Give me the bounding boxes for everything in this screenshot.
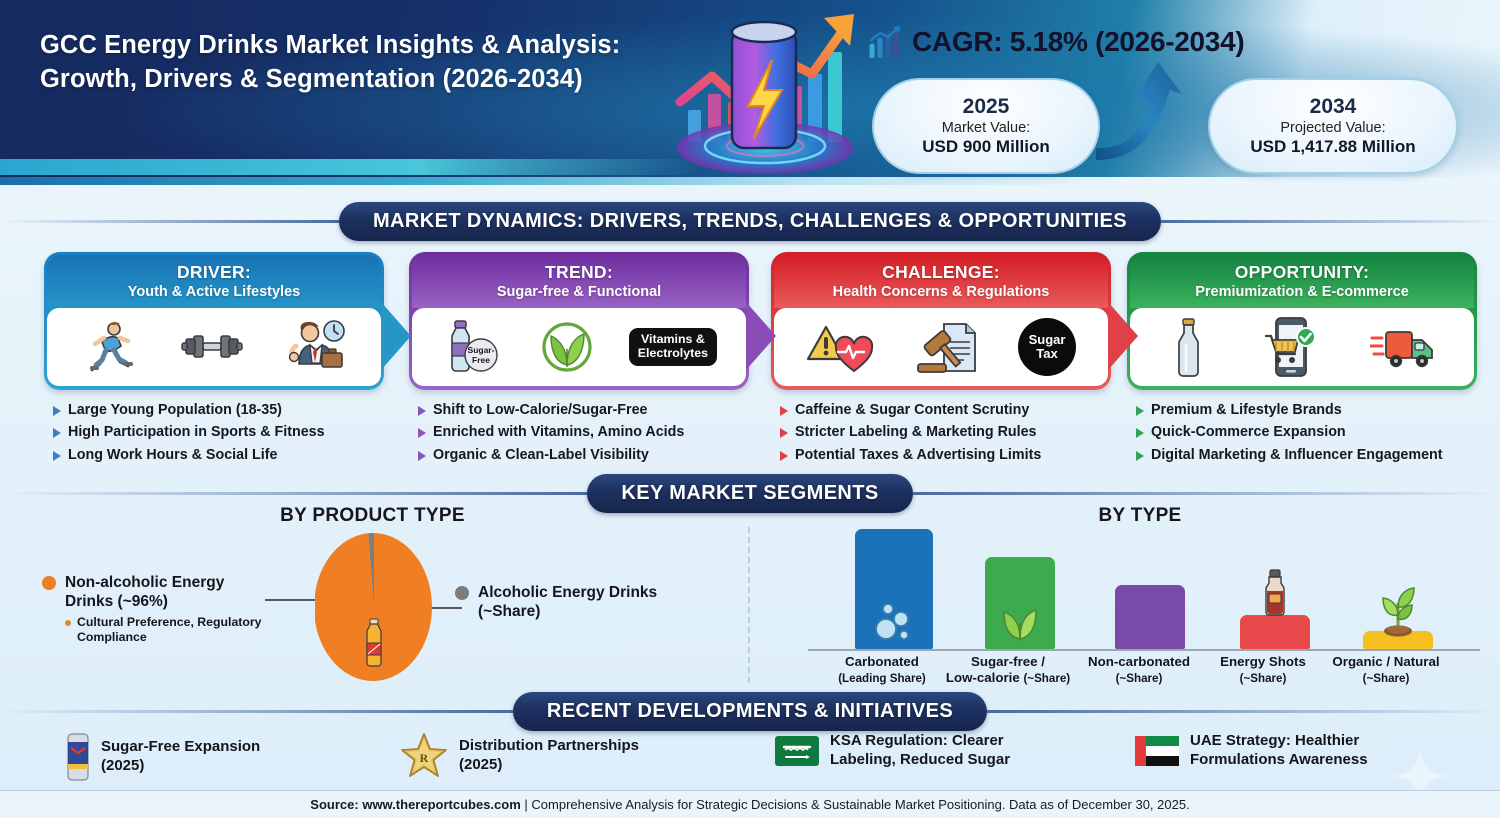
recent-line2: Labeling, Reduced Sugar xyxy=(830,751,1010,768)
pie-chart-by-product-type: BY PRODUCT TYPE xyxy=(0,505,745,695)
list-item: Caffeine & Sugar Content Scrutiny xyxy=(780,401,1111,420)
banner-line-right xyxy=(913,492,1500,495)
card-box: OPPORTUNITY: Premiumization & E-commerce xyxy=(1127,252,1477,390)
sugar-free-bottle-icon: Sugar- Free xyxy=(441,317,505,377)
growth-arrow-icon xyxy=(1094,60,1224,170)
bullet-text: Potential Taxes & Advertising Limits xyxy=(795,446,1041,465)
legend-row: Non-alcoholic Energy Drinks (~96%) xyxy=(42,573,272,612)
cagr-text: CAGR: 5.18% (2026-2034) xyxy=(912,26,1244,58)
banner-label: MARKET DYNAMICS: DRIVERS, TRENDS, CHALLE… xyxy=(339,202,1161,241)
bullet-triangle-icon xyxy=(1136,428,1144,438)
bar xyxy=(855,529,933,649)
card-bullets: Large Young Population (18-35) High Part… xyxy=(44,401,384,465)
card-header: DRIVER: Youth & Active Lifestyles xyxy=(47,255,381,308)
bullet-triangle-icon xyxy=(780,428,788,438)
legend-label: Non-alcoholic Energy Drinks (~96%) xyxy=(65,573,224,612)
bullet-triangle-icon xyxy=(1136,451,1144,461)
footer-text: Source: www.thereportcubes.com | Compreh… xyxy=(310,797,1189,812)
banner-line-left xyxy=(0,220,339,223)
pie-legend-non-alcoholic: Non-alcoholic Energy Drinks (~96%) Cultu… xyxy=(42,573,272,645)
bullet-triangle-icon xyxy=(418,428,426,438)
bar-chart-plot xyxy=(815,529,1475,649)
mobile-cart-check-icon xyxy=(1260,316,1318,378)
cagr-row: CAGR: 5.18% (2026-2034) xyxy=(868,26,1244,58)
bar-label-text: Organic / Natural xyxy=(1332,654,1439,669)
gavel-document-icon xyxy=(914,318,978,376)
bar-label-text: Non-carbonated xyxy=(1088,654,1190,669)
bar-column-organic-natural xyxy=(1363,529,1433,649)
recent-developments-banner: RECENT DEVELOPMENTS & INITIATIVES xyxy=(0,692,1500,731)
bullet-text: Premium & Lifestyle Brands xyxy=(1151,401,1342,420)
businessman-clock-icon xyxy=(286,318,348,376)
recent-item-distribution-partnerships[interactable]: R Distribution Partnerships (2025) xyxy=(400,732,639,780)
source-url[interactable]: www.thereportcubes.com xyxy=(362,797,520,812)
infographic-page: GCC Energy Drinks Market Insights & Anal… xyxy=(0,0,1500,818)
card-bullets: Premium & Lifestyle Brands Quick-Commerc… xyxy=(1127,401,1477,465)
card-box: CHALLENGE: Health Concerns & Regulations xyxy=(771,252,1111,390)
bar-column-carbonated xyxy=(855,529,933,649)
card-title: CHALLENGE: xyxy=(780,262,1102,283)
card-header: TREND: Sugar-free & Functional xyxy=(412,255,746,308)
recent-line2: (2025) xyxy=(101,757,144,774)
bullet-triangle-icon xyxy=(53,428,61,438)
card-icon-row xyxy=(47,308,381,386)
banner-line-left xyxy=(0,710,513,713)
legend-label-line1: Non-alcoholic Energy xyxy=(65,574,224,591)
bar xyxy=(1115,585,1185,649)
legend-sub-dot xyxy=(65,620,71,626)
source-label: Source: xyxy=(310,797,358,812)
bullet-triangle-icon xyxy=(1136,406,1144,416)
recent-item-text: Sugar-Free Expansion (2025) xyxy=(101,738,260,776)
cloud-value: USD 1,417.88 Million xyxy=(1250,137,1415,157)
card-bullets: Caffeine & Sugar Content Scrutiny Strict… xyxy=(771,401,1111,465)
recent-developments-section: Sugar-Free Expansion (2025) R Distributi… xyxy=(0,728,1500,790)
bar-chart-labels: Carbonated (Leading Share) Sugar-free /L… xyxy=(800,654,1490,696)
header-accent-bar xyxy=(0,159,700,175)
card-subtitle: Sugar-free & Functional xyxy=(418,284,740,300)
card-title: TREND: xyxy=(418,262,740,283)
bar-label-energy-shots: Energy Shots (~Share) xyxy=(1207,654,1319,686)
bullet-triangle-icon xyxy=(53,406,61,416)
bar-label-sugar-free: Sugar-free /Low-calorie (~Share) xyxy=(943,654,1073,686)
bar-label-text: Carbonated xyxy=(845,654,919,669)
card-header: CHALLENGE: Health Concerns & Regulations xyxy=(774,255,1108,308)
recent-item-sugar-free-expansion[interactable]: Sugar-Free Expansion (2025) xyxy=(66,732,260,782)
legend-label-line2: (~Share) xyxy=(478,603,540,620)
recent-line1: Distribution Partnerships xyxy=(459,737,639,754)
cloud-year: 2025 xyxy=(963,95,1010,118)
card-arrow-tip xyxy=(381,302,411,370)
recent-line2: Formulations Awareness xyxy=(1190,751,1368,768)
pie-legend-alcoholic: Alcoholic Energy Drinks (~Share) xyxy=(455,583,695,622)
bullet-text: Stricter Labeling & Marketing Rules xyxy=(795,423,1037,442)
svg-text:R: R xyxy=(420,751,429,765)
bullet-text: Quick-Commerce Expansion xyxy=(1151,423,1346,442)
card-subtitle: Premiumization & E-commerce xyxy=(1136,284,1468,300)
card-title: DRIVER: xyxy=(53,262,375,283)
recent-item-text: UAE Strategy: Healthier Formulations Awa… xyxy=(1190,732,1368,770)
bullet-text: Shift to Low-Calorie/Sugar-Free xyxy=(433,401,647,420)
svg-text:Free: Free xyxy=(472,355,490,365)
card-header: OPPORTUNITY: Premiumization & E-commerce xyxy=(1130,255,1474,308)
segments-divider xyxy=(748,527,750,683)
legend-sub-text: Cultural Preference, Regulatory Complian… xyxy=(77,615,272,646)
list-item: Quick-Commerce Expansion xyxy=(1136,423,1477,442)
list-item: Organic & Clean-Label Visibility xyxy=(418,446,749,465)
bar-label-text: Energy Shots xyxy=(1220,654,1306,669)
market-value-cloud-2025: 2025 Market Value: USD 900 Million xyxy=(872,78,1100,174)
dynamics-card-challenge[interactable]: CHALLENGE: Health Concerns & Regulations xyxy=(771,252,1111,468)
list-item: Large Young Population (18-35) xyxy=(53,401,384,420)
bar-column-sugar-free xyxy=(985,529,1055,649)
footer-source-bar: Source: www.thereportcubes.com | Compreh… xyxy=(0,790,1500,818)
bullet-triangle-icon xyxy=(418,451,426,461)
legend-color-dot xyxy=(42,576,56,590)
legend-label-line2: Drinks (~96%) xyxy=(65,593,168,610)
header-banner: GCC Energy Drinks Market Insights & Anal… xyxy=(0,0,1500,185)
card-bullets: Shift to Low-Calorie/Sugar-Free Enriched… xyxy=(409,401,749,465)
key-market-segments-section: BY PRODUCT TYPE xyxy=(0,505,1500,695)
bullet-text: High Participation in Sports & Fitness xyxy=(68,423,325,442)
banner-line-left xyxy=(0,492,587,495)
list-item: Potential Taxes & Advertising Limits xyxy=(780,446,1111,465)
redbull-can-icon xyxy=(66,732,90,782)
bar-sublabel-text: (~Share) xyxy=(1363,672,1410,685)
sprout-icon xyxy=(1374,585,1422,637)
bullet-text: Digital Marketing & Influencer Engagemen… xyxy=(1151,446,1443,465)
bar-chart-by-type: BY TYPE xyxy=(780,505,1500,695)
bullet-text: Organic & Clean-Label Visibility xyxy=(433,446,649,465)
shot-bottle-icon xyxy=(1260,569,1290,617)
bubbles-icon xyxy=(871,597,917,643)
cloud-label: Market Value: xyxy=(942,120,1030,136)
bullet-text: Enriched with Vitamins, Amino Acids xyxy=(433,423,684,442)
bar-label-carbonated: Carbonated (Leading Share) xyxy=(822,654,942,686)
bar xyxy=(1240,615,1310,649)
rockstar-star-icon: R xyxy=(400,732,448,780)
recent-line1: Sugar-Free Expansion xyxy=(101,738,260,755)
recent-item-text: KSA Regulation: Clearer Labeling, Reduce… xyxy=(830,732,1010,770)
list-item: Premium & Lifestyle Brands xyxy=(1136,401,1477,420)
runner-icon xyxy=(80,318,138,376)
energy-drink-can-icon xyxy=(640,2,890,182)
bullet-triangle-icon xyxy=(53,451,61,461)
cloud-label: Projected Value: xyxy=(1280,120,1385,136)
bar-sublabel-text: (~Share) xyxy=(1240,672,1287,685)
bullet-text: Long Work Hours & Social Life xyxy=(68,446,277,465)
legend-color-dot xyxy=(455,586,469,600)
card-subtitle: Health Concerns & Regulations xyxy=(780,284,1102,300)
list-item: Enriched with Vitamins, Amino Acids xyxy=(418,423,749,442)
bar xyxy=(1363,631,1433,649)
bar xyxy=(985,557,1055,649)
bullet-text: Large Young Population (18-35) xyxy=(68,401,282,420)
bar-sublabel-text: (~Share) xyxy=(1116,672,1163,685)
banner-line-right xyxy=(987,710,1500,713)
cloud-year: 2034 xyxy=(1310,95,1357,118)
bar-label-non-carbonated: Non-carbonated (~Share) xyxy=(1074,654,1204,686)
card-title: OPPORTUNITY: xyxy=(1136,262,1468,283)
warning-heartbeat-icon xyxy=(806,319,874,375)
legend-label-line1: Alcoholic Energy Drinks xyxy=(478,584,657,601)
bar-chart-growth-icon xyxy=(868,26,902,58)
list-item: Shift to Low-Calorie/Sugar-Free xyxy=(418,401,749,420)
bullet-triangle-icon xyxy=(780,451,788,461)
banner-line-right xyxy=(1161,220,1500,223)
premium-bottle-icon xyxy=(1168,316,1208,378)
dynamics-card-trend[interactable]: TREND: Sugar-free & Functional Sugar- Fr… xyxy=(409,252,749,468)
card-icon-row xyxy=(1130,308,1474,386)
bar-sublabel-text: (~Share) xyxy=(1023,672,1070,685)
bar-chart-baseline xyxy=(808,649,1480,651)
legend-label: Alcoholic Energy Drinks (~Share) xyxy=(478,583,657,622)
energy-drink-bottle-icon xyxy=(367,619,381,666)
pie-chart-title: BY PRODUCT TYPE xyxy=(0,505,745,527)
bar-sublabel-text: (Leading Share) xyxy=(838,672,926,685)
svg-text:Sugar-: Sugar- xyxy=(467,345,494,355)
sugar-tax-badge: Sugar Tax xyxy=(1018,318,1076,376)
card-icon-row: Sugar- Free Vitamins & Electrolytes xyxy=(412,308,746,386)
card-subtitle: Youth & Active Lifestyles xyxy=(53,284,375,300)
list-item: High Participation in Sports & Fitness xyxy=(53,423,384,442)
vitamins-electrolytes-badge: Vitamins & Electrolytes xyxy=(629,328,717,366)
leaf-icon xyxy=(998,599,1042,643)
page-title: GCC Energy Drinks Market Insights & Anal… xyxy=(40,28,640,96)
recent-item-uae-strategy[interactable]: UAE Strategy: Healthier Formulations Awa… xyxy=(1135,732,1368,770)
saudi-arabia-flag-icon xyxy=(775,736,819,766)
bullet-text: Caffeine & Sugar Content Scrutiny xyxy=(795,401,1029,420)
pie-chart-svg xyxy=(315,533,433,681)
cloud-value: USD 900 Million xyxy=(922,137,1050,157)
green-leaf-icon xyxy=(539,319,595,375)
banner-label: RECENT DEVELOPMENTS & INITIATIVES xyxy=(513,692,987,731)
card-arrow-tip xyxy=(1108,302,1138,370)
market-dynamics-section: DRIVER: Youth & Active Lifestyles xyxy=(0,252,1500,474)
bullet-triangle-icon xyxy=(418,406,426,416)
delivery-truck-icon xyxy=(1370,324,1436,370)
uae-flag-icon xyxy=(1135,736,1179,766)
card-icon-row: Sugar Tax xyxy=(774,308,1108,386)
list-item: Stricter Labeling & Marketing Rules xyxy=(780,423,1111,442)
bullet-triangle-icon xyxy=(780,406,788,416)
bar-label-organic-natural: Organic / Natural (~Share) xyxy=(1321,654,1451,686)
recent-line1: UAE Strategy: Healthier xyxy=(1190,732,1359,749)
list-item: Digital Marketing & Influencer Engagemen… xyxy=(1136,446,1477,465)
dumbbell-icon xyxy=(181,325,243,369)
recent-line1: KSA Regulation: Clearer xyxy=(830,732,1004,749)
bar-column-energy-shots xyxy=(1240,529,1310,649)
footer-separator: | xyxy=(524,797,527,812)
list-item: Long Work Hours & Social Life xyxy=(53,446,384,465)
card-arrow-tip xyxy=(746,302,776,370)
bar-chart-title: BY TYPE xyxy=(780,505,1500,527)
projected-value-cloud-2034: 2034 Projected Value: USD 1,417.88 Milli… xyxy=(1208,78,1458,174)
market-dynamics-banner: MARKET DYNAMICS: DRIVERS, TRENDS, CHALLE… xyxy=(0,202,1500,241)
bar-column-non-carbonated xyxy=(1115,529,1185,649)
dynamics-card-opportunity[interactable]: OPPORTUNITY: Premiumization & E-commerce xyxy=(1127,252,1477,468)
card-box: TREND: Sugar-free & Functional Sugar- Fr… xyxy=(409,252,749,390)
recent-line2: (2025) xyxy=(459,756,502,773)
dynamics-card-driver[interactable]: DRIVER: Youth & Active Lifestyles xyxy=(44,252,384,468)
recent-item-ksa-regulation[interactable]: KSA Regulation: Clearer Labeling, Reduce… xyxy=(775,732,1010,770)
card-box: DRIVER: Youth & Active Lifestyles xyxy=(44,252,384,390)
recent-item-text: Distribution Partnerships (2025) xyxy=(459,737,639,775)
legend-sublabel: Cultural Preference, Regulatory Complian… xyxy=(65,615,272,646)
footer-note: Comprehensive Analysis for Strategic Dec… xyxy=(531,797,1189,812)
legend-row: Alcoholic Energy Drinks (~Share) xyxy=(455,583,695,622)
